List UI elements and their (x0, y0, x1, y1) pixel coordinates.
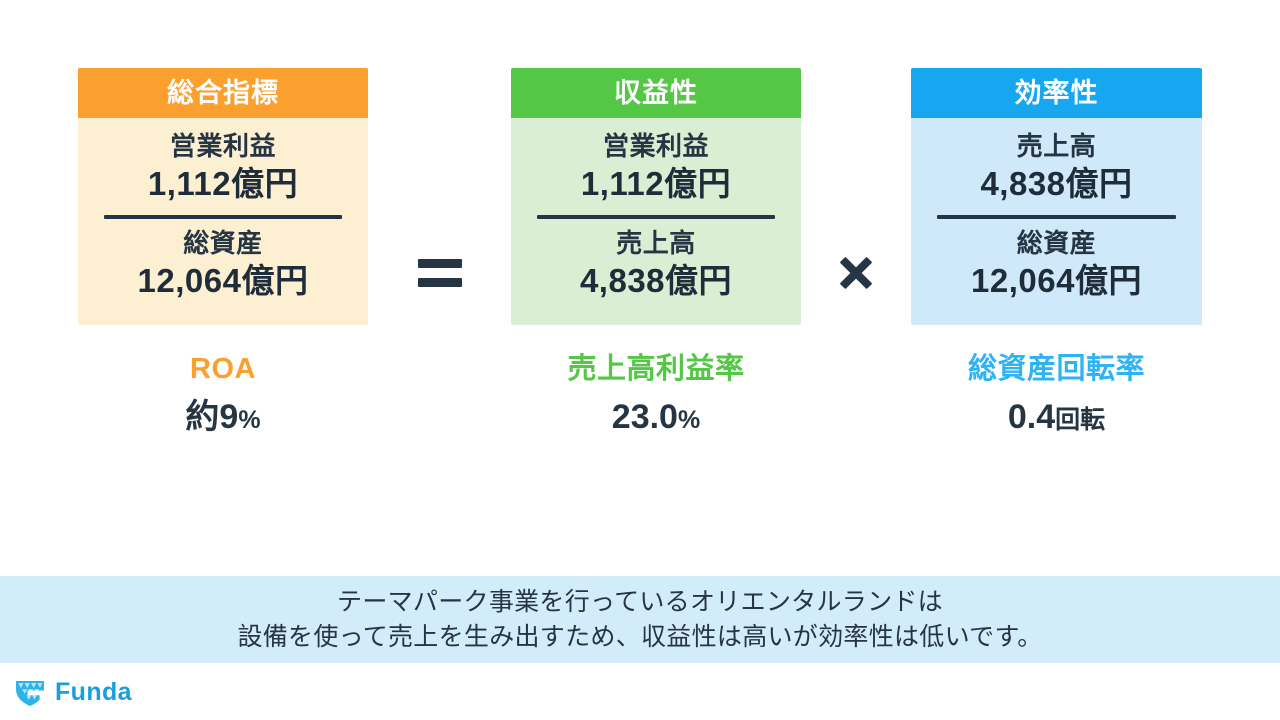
formula-column-margin: 収益性 営業利益 1,112億円 売上高 4,838億円 売上高利益率 23.0… (511, 68, 801, 438)
equals-icon (418, 259, 462, 287)
metric-card-roa: 総合指標 営業利益 1,112億円 総資産 12,064億円 (78, 68, 368, 325)
fraction-bar-roa (104, 215, 342, 219)
numerator-label-turnover: 売上高 (933, 130, 1180, 163)
card-header-turnover: 効率性 (911, 68, 1202, 118)
card-header-margin: 収益性 (511, 68, 801, 118)
multiply-icon (837, 254, 875, 292)
operator-equals (405, 238, 475, 308)
result-value-margin: 23.0% (511, 397, 801, 438)
result-block-roa: ROA 約9% (78, 351, 368, 438)
denominator-value-margin: 4,838億円 (533, 260, 779, 303)
result-block-turnover: 総資産回転率 0.4回転 (911, 351, 1202, 438)
result-value-roa: 約9% (78, 397, 368, 438)
numerator-label-margin: 営業利益 (533, 130, 779, 163)
footer-logo: Funda (14, 674, 132, 710)
denominator-value-turnover: 12,064億円 (933, 260, 1180, 303)
denominator-value-roa: 12,064億円 (100, 260, 346, 303)
result-unit-margin: % (678, 406, 700, 434)
denominator-label-turnover: 総資産 (933, 227, 1180, 260)
caption-line-1: テーマパーク事業を行っているオリエンタルランドは (337, 585, 943, 620)
numerator-value-roa: 1,112億円 (100, 163, 346, 206)
result-name-roa: ROA (78, 351, 368, 387)
formula-column-roa: 総合指標 営業利益 1,112億円 総資産 12,064億円 ROA 約9% (78, 68, 368, 438)
operator-times (821, 238, 891, 308)
denominator-label-roa: 総資産 (100, 227, 346, 260)
numerator-label-roa: 営業利益 (100, 130, 346, 163)
result-name-margin: 売上高利益率 (511, 351, 801, 387)
metric-card-turnover: 効率性 売上高 4,838億円 総資産 12,064億円 (911, 68, 1202, 325)
formula-column-turnover: 効率性 売上高 4,838億円 総資産 12,064億円 総資産回転率 0.4回… (911, 68, 1202, 438)
result-block-margin: 売上高利益率 23.0% (511, 351, 801, 438)
result-value-turnover: 0.4回転 (911, 397, 1202, 438)
result-number-roa: 約9 (185, 398, 238, 436)
funda-diamond-icon (14, 676, 46, 708)
numerator-value-margin: 1,112億円 (533, 163, 779, 206)
result-number-turnover: 0.4 (1008, 398, 1055, 436)
result-number-margin: 23.0 (612, 398, 678, 436)
card-body-turnover: 売上高 4,838億円 総資産 12,064億円 (911, 118, 1202, 325)
fraction-bar-margin (537, 215, 775, 219)
numerator-value-turnover: 4,838億円 (933, 163, 1180, 206)
card-body-margin: 営業利益 1,112億円 売上高 4,838億円 (511, 118, 801, 325)
fraction-bar-turnover (937, 215, 1176, 219)
card-header-roa: 総合指標 (78, 68, 368, 118)
metric-card-margin: 収益性 営業利益 1,112億円 売上高 4,838億円 (511, 68, 801, 325)
result-unit-turnover: 回転 (1055, 406, 1105, 434)
denominator-label-margin: 売上高 (533, 227, 779, 260)
formula-row: 総合指標 営業利益 1,112億円 総資産 12,064億円 ROA 約9% 収… (0, 68, 1280, 528)
caption-banner: テーマパーク事業を行っているオリエンタルランドは 設備を使って売上を生み出すため… (0, 576, 1280, 663)
result-name-turnover: 総資産回転率 (911, 351, 1202, 387)
card-body-roa: 営業利益 1,112億円 総資産 12,064億円 (78, 118, 368, 325)
result-unit-roa: % (238, 406, 260, 434)
brand-name: Funda (55, 678, 132, 707)
caption-line-2: 設備を使って売上を生み出すため、収益性は高いが効率性は低いです。 (237, 620, 1042, 655)
